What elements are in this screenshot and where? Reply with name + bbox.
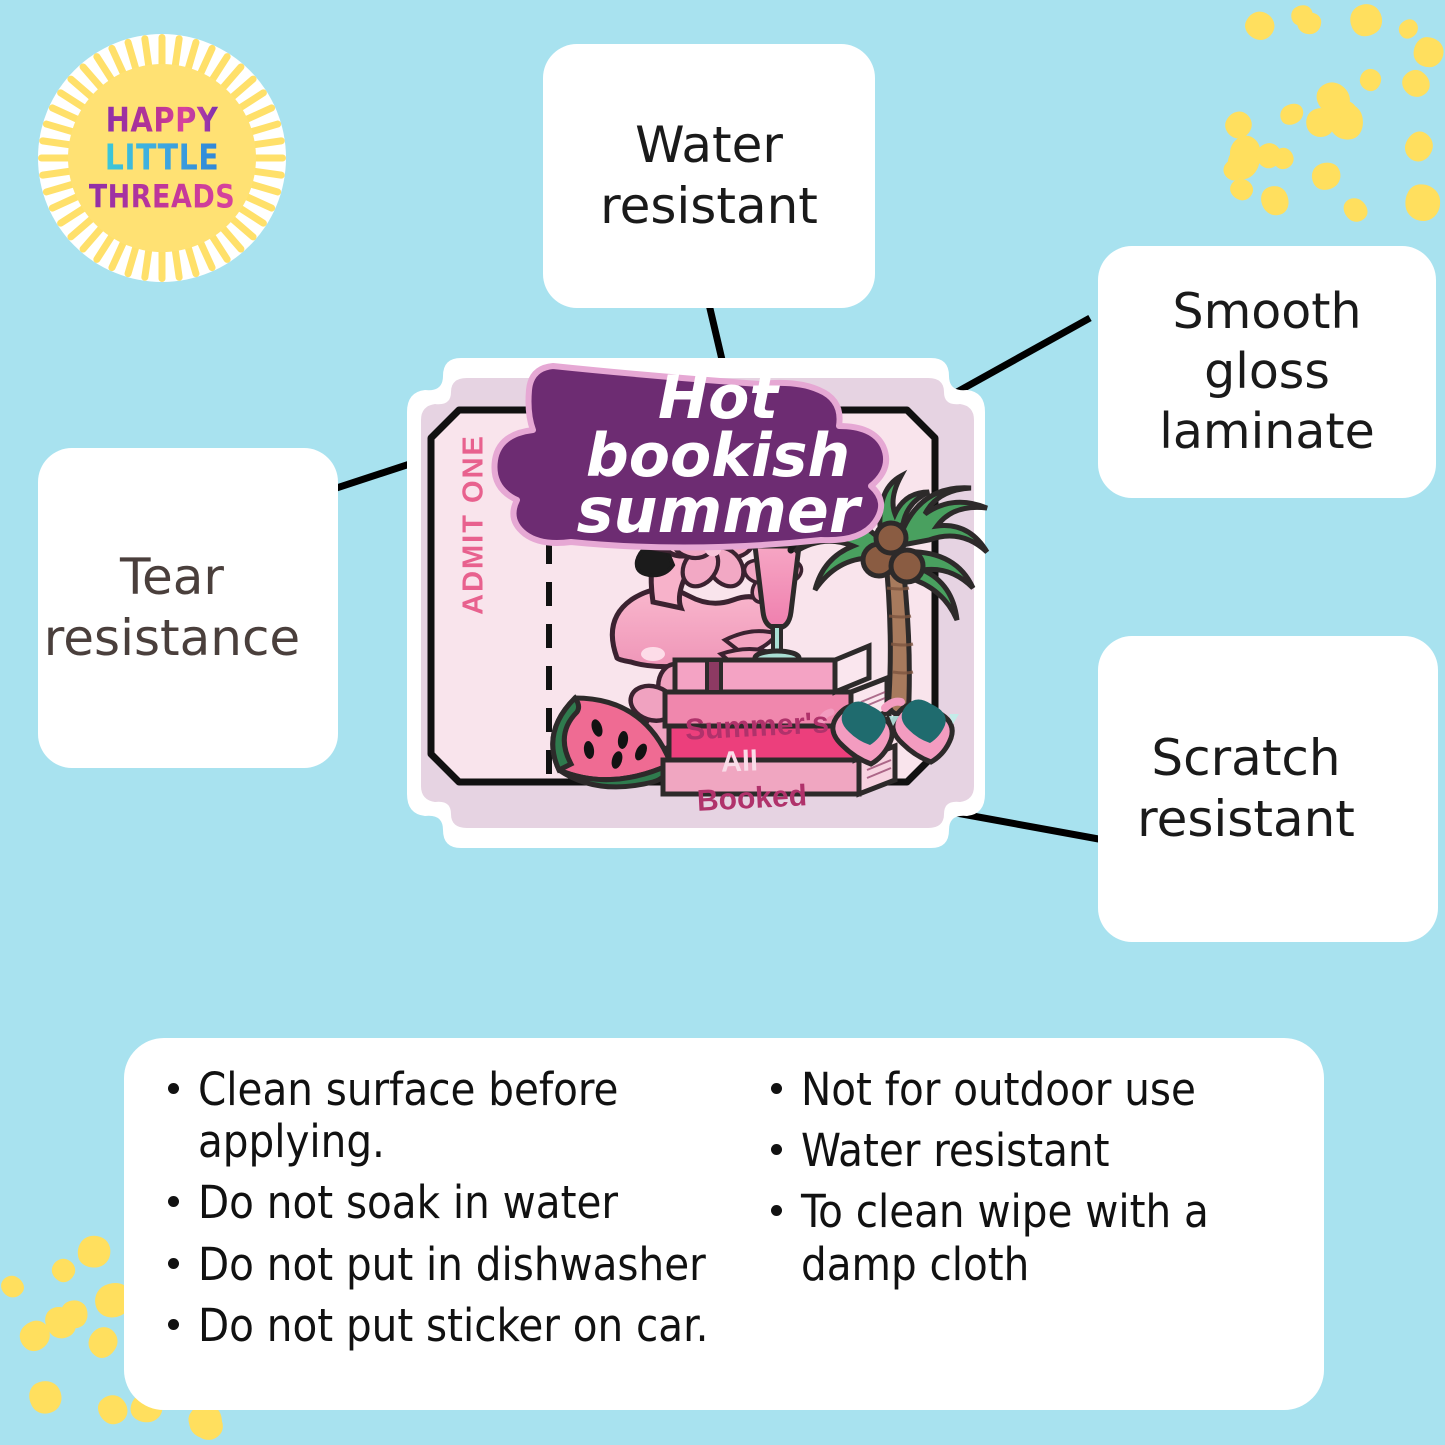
care-instructions-left-column: Clean surface before applying.Do not soa… (124, 1038, 721, 1410)
confetti-dot (1269, 144, 1298, 173)
callout-gloss-line2: gloss (1159, 342, 1374, 402)
sticker-title-line1: Hot bookish (533, 370, 903, 485)
confetti-dot (14, 1315, 56, 1358)
confetti-dot (1277, 100, 1308, 129)
confetti-dot (1221, 107, 1256, 143)
infographic-canvas: HAPPY LITTLE THREADS (0, 0, 1445, 1445)
book-spine-label-3: Booked (696, 779, 808, 819)
callout-scratch-resistant: Scratch resistant (1098, 636, 1438, 942)
admit-one-label: ADMIT ONE (458, 430, 491, 620)
confetti-dot (187, 1404, 228, 1445)
callout-scratch-line1: Scratch (1054, 728, 1438, 789)
confetti-dot (36, 1381, 62, 1409)
callout-water-resistant: Water resistant (543, 44, 875, 308)
callout-scratch-line2: resistant (1054, 789, 1438, 850)
book-spine-label-2: All (720, 745, 758, 779)
callout-water-line1: Water (600, 115, 818, 176)
confetti-dot (1395, 16, 1422, 43)
confetti-dot (57, 1297, 91, 1332)
care-instruction-item: Water resistant (749, 1125, 1314, 1177)
logo-line-happy: HAPPY (106, 103, 219, 137)
confetti-dots-top-right (1215, 0, 1445, 230)
care-instruction-item: Do not soak in water (146, 1177, 711, 1229)
care-instructions-right-column: Not for outdoor useWater resistantTo cle… (721, 1038, 1324, 1410)
confetti-dot (1325, 100, 1367, 144)
callout-tear-resistance: Tear resistance (38, 448, 338, 768)
confetti-dot (1343, 0, 1388, 42)
callout-tear-line2: resistance (6, 608, 338, 669)
confetti-dot (23, 1375, 67, 1419)
confetti-dot (74, 1233, 113, 1271)
callout-water-line2: resistant (600, 176, 818, 237)
confetti-dot (1358, 67, 1384, 93)
care-instruction-item: Do not put sticker on car. (146, 1300, 711, 1352)
care-instructions-panel: Clean surface before applying.Do not soa… (124, 1038, 1324, 1410)
confetti-dot (1297, 11, 1322, 35)
logo-line-threads: THREADS (89, 181, 236, 213)
sticker-title: Hot bookish summer (533, 370, 903, 541)
callout-tear-line1: Tear (6, 547, 338, 608)
confetti-dot (49, 1255, 80, 1286)
confetti-dot (1307, 157, 1345, 194)
confetti-dot (1227, 176, 1256, 203)
confetti-dot (1310, 77, 1356, 122)
confetti-dot (1315, 98, 1345, 129)
confetti-dot (1327, 96, 1362, 131)
confetti-dot (1224, 140, 1264, 183)
confetti-dot (1220, 155, 1249, 184)
care-instruction-item: To clean wipe with a damp cloth (749, 1186, 1314, 1290)
confetti-dot (1288, 1, 1317, 30)
care-instruction-item: Clean surface before applying. (146, 1064, 711, 1168)
confetti-dot (1251, 137, 1287, 173)
confetti-dot (1403, 182, 1442, 223)
confetti-dot (1224, 130, 1265, 172)
callout-gloss-line1: Smooth (1159, 282, 1374, 342)
confetti-dot (1414, 37, 1444, 68)
callout-smooth-gloss-laminate: Smooth gloss laminate (1098, 246, 1436, 498)
confetti-dot (84, 1322, 123, 1362)
sticker-title-line2: summer (533, 481, 903, 541)
brand-logo: HAPPY LITTLE THREADS (38, 34, 286, 282)
confetti-dot (1302, 103, 1339, 141)
care-instruction-item: Not for outdoor use (749, 1064, 1314, 1116)
confetti-dot (0, 1271, 28, 1301)
confetti-dot (39, 1300, 82, 1344)
confetti-dot (1401, 128, 1438, 166)
callout-gloss-line3: laminate (1159, 402, 1374, 462)
care-instruction-item: Do not put in dishwasher (146, 1239, 711, 1291)
logo-line-little: LITTLE (105, 141, 220, 176)
confetti-dot (1242, 8, 1279, 44)
confetti-dot (1255, 180, 1293, 220)
confetti-dot (1397, 65, 1435, 103)
product-sticker: ADMIT ONE Hot bookish summer Summer's Al… (385, 358, 1010, 848)
confetti-dot (1339, 193, 1372, 226)
logo-core: HAPPY LITTLE THREADS (68, 64, 256, 252)
book-spine-label-1: Summer's (684, 706, 829, 747)
